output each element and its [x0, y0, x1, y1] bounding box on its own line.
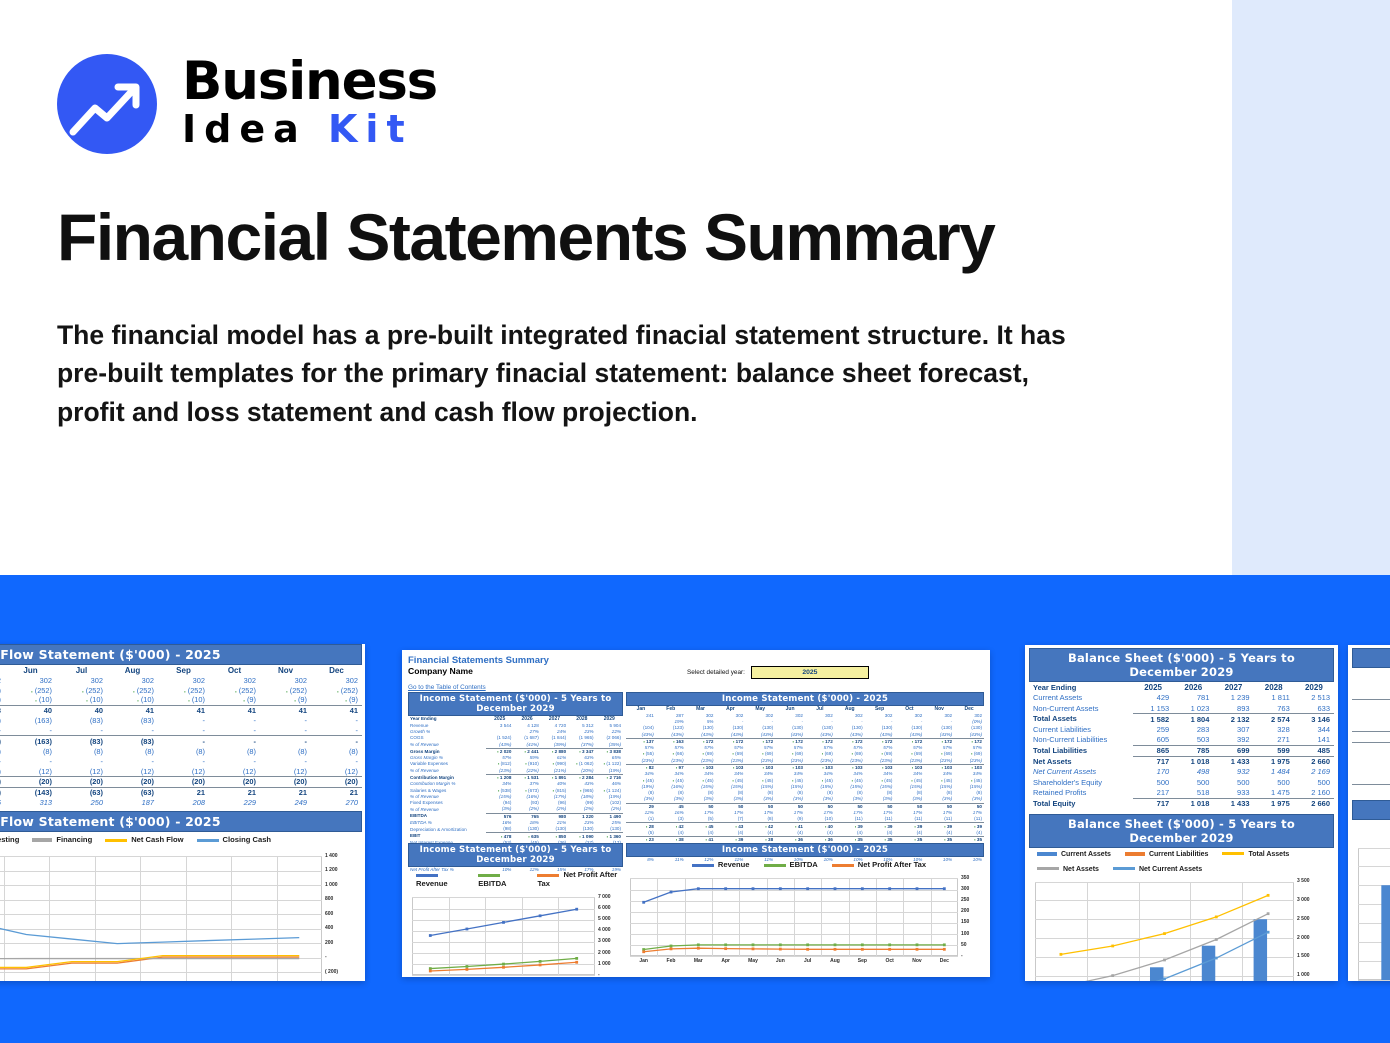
comment-flag-icon: ▪ [852, 739, 853, 744]
table-cell: ▪ (252) [311, 685, 362, 695]
table-cell: 933 [1213, 788, 1253, 799]
legend-label: Current Assets [1061, 851, 1111, 858]
table-cell: 3 146 [1294, 714, 1334, 725]
column-header: 2028 [1254, 682, 1294, 693]
legend-label: EBITDA [478, 879, 506, 888]
table-cell: - [5, 756, 56, 766]
comment-flag-icon: ▪ [971, 778, 972, 783]
legend-item: Net Profit After Tax [537, 870, 623, 888]
table-cell: ▪ 42 [656, 823, 686, 830]
trend-arrow-circle-icon [57, 54, 157, 154]
comment-flag-icon: ▪ [646, 824, 647, 829]
comment-flag-icon: ▪ [243, 698, 244, 703]
comment-flag-icon: ▪ [643, 778, 644, 783]
table-cell: 1 811 [1254, 693, 1294, 704]
table-cell: 2 660 [1294, 798, 1334, 809]
comment-flag-icon: ▪ [188, 698, 189, 703]
table-cell: 21 [158, 787, 209, 797]
table-row: Current Liabilities259283307328344 [1029, 724, 1334, 735]
table-cell: (3%) [656, 796, 686, 803]
table-cell: 1 174 [1352, 679, 1390, 690]
comment-flag-icon: ▪ [941, 778, 942, 783]
comment-flag-icon: ▪ [793, 739, 794, 744]
comment-flag-icon: ▪ [942, 739, 943, 744]
table-cell: 217 [1133, 788, 1173, 799]
brand-name-kit: Kit [328, 107, 413, 151]
legend-item: Current Liabilities [1125, 851, 1209, 858]
comment-flag-icon: ▪ [914, 837, 915, 842]
table-cell: (3%) [715, 796, 745, 803]
table-cell: (8) [5, 746, 56, 756]
table-cell: 2 169 [1294, 767, 1334, 778]
table-cell: (23%) [835, 758, 865, 765]
table-cell: (3%) [805, 796, 835, 803]
table-cell: (41%) [513, 742, 540, 749]
table-row: (21)(20)(20)(20)(20)(20)(20)(20) [0, 776, 362, 787]
table-cell: (2%) [568, 806, 595, 813]
table-row: EBIT▪ 478▪ 635▪ 850▪ 1 090▪ 1 360 [408, 833, 623, 840]
table-cell: (83) [107, 716, 158, 726]
table-cell: 429 [1133, 693, 1173, 704]
table-row: % of Revenue(43%)(41%)(39%)(37%)(35%) [408, 742, 623, 749]
comment-flag-icon: ▪ [525, 788, 526, 793]
summary-doc-title: Financial Statements Summary [408, 655, 984, 666]
comment-flag-icon: ▪ [82, 689, 83, 694]
legend-item: Revenue [416, 870, 468, 888]
comment-flag-icon: ▪ [646, 765, 647, 770]
table-cell: 41 [107, 705, 158, 715]
table-cell: (23%) [954, 758, 984, 765]
table-cell: - [260, 726, 311, 736]
table-cell: 512 [1352, 742, 1390, 753]
comment-flag-icon: ▪ [882, 765, 883, 770]
comment-flag-icon: ▪ [792, 751, 793, 756]
table-cell: - [209, 756, 260, 766]
table-cell: 765 [513, 813, 540, 820]
comment-flag-icon: ▪ [579, 834, 580, 839]
table-row: 12 [1352, 774, 1390, 785]
table-cell: 2 132 [1213, 714, 1253, 725]
comment-flag-icon: ▪ [822, 751, 823, 756]
table-cell: ▪ (10) [5, 695, 56, 705]
table-cell: 1 018 [1173, 798, 1213, 809]
table-cell: 1 582 [1133, 714, 1173, 725]
legend-label: Revenue [416, 879, 448, 888]
comment-flag-icon: ▪ [525, 775, 526, 780]
table-cell: 1 081 [1352, 753, 1390, 764]
table-cell: ▪ 39 [835, 823, 865, 830]
table-cell: - [209, 726, 260, 736]
table-cell: ▪ 3 838 [596, 748, 623, 755]
table-cell: ▪ 39 [924, 823, 954, 830]
comment-flag-icon: ▪ [885, 824, 886, 829]
comment-flag-icon: ▪ [345, 698, 346, 703]
table-row: (43%)(43%)(43%)(43%)(43%)(43%)(43%)(43%)… [626, 732, 984, 739]
table-of-contents-link[interactable]: Go to the Table of Contents [408, 684, 486, 691]
table-cell: ▪ (9) [260, 695, 311, 705]
column-header: Nov [260, 665, 311, 675]
table-cell: (83) [107, 736, 158, 746]
legend-label: EBITDA [790, 860, 818, 869]
table-row: (163)(163)(83)(83)---- [0, 716, 362, 726]
table-cell: (19%) [596, 768, 623, 775]
table-cell: (43%) [865, 732, 895, 739]
table-cell: (20) [311, 776, 362, 787]
table-cell: 576 [486, 813, 513, 820]
table-cell: 50 [954, 803, 984, 810]
comment-flag-icon: ▪ [825, 824, 826, 829]
table-cell: (4) [686, 830, 716, 837]
table-cell: (43%) [486, 742, 513, 749]
table-cell: 302 [5, 675, 56, 685]
table-cell: (43%) [775, 732, 805, 739]
table-cell: ▪ 172 [954, 738, 984, 745]
table-cell: 692 [1352, 721, 1390, 732]
table-cell: ▪ 850 [541, 833, 568, 840]
cashflow-table-title: Cash Flow Statement ($'000) - 2025 [0, 644, 362, 665]
table-cell: (163) [5, 736, 56, 746]
annual-chart-legend: RevenueEBITDANet Profit After Tax [408, 867, 623, 891]
comment-flag-icon: ▪ [852, 751, 853, 756]
table-row: 93 [1352, 710, 1390, 721]
legend-label: Current Liabilities [1149, 851, 1209, 858]
table-cell: (3%) [745, 796, 775, 803]
table-cell: 500 [1254, 777, 1294, 788]
table-cell: (11) [894, 816, 924, 823]
legend-swatch [537, 874, 559, 877]
table-cell: 12 [1352, 774, 1390, 785]
row-header-label: Year Ending [1029, 682, 1133, 693]
table-cell: ▪ 2 441 [513, 748, 540, 755]
table-cell: (4) [745, 830, 775, 837]
legend-swatch [32, 838, 52, 842]
row-label: Depreciation & Amortization [408, 826, 486, 833]
column-header: Aug [107, 665, 158, 675]
table-cell: - [158, 726, 209, 736]
legend-label: Net Profit After Tax [858, 860, 926, 869]
table-cell: ▪ 172 [865, 738, 895, 745]
table-cell: - [158, 736, 209, 746]
table-cell: 21 [311, 787, 362, 797]
legend-swatch [832, 864, 854, 867]
table-cell: (23%) [924, 758, 954, 765]
table-cell: 1 297 [1352, 700, 1390, 711]
comment-flag-icon: ▪ [942, 765, 943, 770]
table-cell: (12) [311, 766, 362, 776]
table-cell: (21%) [541, 768, 568, 775]
comment-flag-icon: ▪ [765, 824, 766, 829]
table-cell: ▪ 1 090 [568, 833, 595, 840]
brand-name-line2: Idea Kit [182, 109, 437, 151]
table-cell: 503 [1173, 735, 1213, 746]
table-cell: ▪ 82 [626, 764, 656, 771]
row-label: Net Assets [1029, 756, 1133, 767]
table-cell: (98) [486, 826, 513, 833]
monthly-chart-legend: RevenueEBITDANet Profit After Tax [626, 857, 984, 872]
table-cell: 50 [686, 803, 716, 810]
brand-name-line1: Business [182, 57, 437, 107]
edge-panel: Jan1 1741241 297936927865121 08150012512… [1348, 645, 1390, 981]
table-cell: ▪ 103 [805, 764, 835, 771]
table-cell: 1 220 [568, 813, 595, 820]
comment-flag-icon: ▪ [914, 824, 915, 829]
table-cell: (8) [260, 746, 311, 756]
table-cell: (11) [835, 816, 865, 823]
comment-flag-icon: ▪ [528, 834, 529, 839]
table-cell: (83) [56, 716, 107, 726]
table-cell: ▪ 103 [954, 764, 984, 771]
table-row: 294550505050505050505050 [626, 803, 984, 810]
comment-flag-icon: ▪ [732, 751, 733, 756]
comment-flag-icon: ▪ [604, 788, 605, 793]
table-cell: 1 153 [1133, 703, 1173, 714]
table-cell: ▪ 172 [715, 738, 745, 745]
table-cell: (130) [596, 826, 623, 833]
table-cell: ▪ 172 [894, 738, 924, 745]
comment-flag-icon: ▪ [498, 788, 499, 793]
table-cell: (8) [107, 746, 158, 756]
table-cell: (9) [775, 816, 805, 823]
row-label: % of Revenue [408, 768, 486, 775]
table-cell: ▪ 1 360 [596, 833, 623, 840]
table-cell: 2 160 [1294, 788, 1334, 799]
table-cell: 50 [835, 803, 865, 810]
table-cell: ▪ (10) [56, 695, 107, 705]
table-cell: ▪ (252) [5, 685, 56, 695]
table-cell: ▪ 39 [954, 823, 984, 830]
table-cell: 717 [1133, 756, 1173, 767]
table-cell: 29 [626, 803, 656, 810]
table-row: (8)(8)(8)(8)(8)(8)(8)(8) [0, 746, 362, 756]
comment-flag-icon: ▪ [497, 749, 498, 754]
table-cell: 699 [1213, 745, 1253, 756]
table-cell: ▪ (252) [209, 685, 260, 695]
table-cell: 21 [260, 787, 311, 797]
comment-flag-icon: ▪ [795, 824, 796, 829]
comment-flag-icon: ▪ [525, 749, 526, 754]
table-cell: 302 [107, 675, 158, 685]
comment-flag-icon: ▪ [235, 689, 236, 694]
table-cell: 41 [158, 705, 209, 715]
table-cell: (4) [865, 830, 895, 837]
legend-label: Net Assets [1063, 866, 1099, 873]
table-cell: (43%) [924, 732, 954, 739]
table-cell: - [311, 716, 362, 726]
table-cell: 500 [1294, 777, 1334, 788]
table-cell: (3%) [775, 796, 805, 803]
comment-flag-icon: ▪ [31, 689, 32, 694]
table-cell: 40 [56, 705, 107, 715]
table-cell: ▪ 40 [805, 823, 835, 830]
table-cell: ▪ 172 [745, 738, 775, 745]
table-row: (1)(3)(5)(7)(8)(9)(10)(11)(11)(11)(11)(1… [626, 816, 984, 823]
table-cell: ▪ 103 [835, 764, 865, 771]
brand-wordmark: Business Idea Kit [182, 57, 437, 151]
legend-label: Net Cash Flow [131, 835, 183, 844]
table-cell: ▪ (10) [158, 695, 209, 705]
table-row: Depreciation & Amortization(98)(130)(130… [408, 826, 623, 833]
table-cell: 187 [107, 797, 158, 807]
table-cell: - [209, 716, 260, 726]
table-cell: ▪ 45 [686, 823, 716, 830]
row-label: EBIT [408, 833, 486, 840]
table-cell: (12) [209, 766, 260, 776]
table-row: (163)(163)(83)(83)---- [0, 736, 362, 746]
table-cell: 302 [260, 675, 311, 685]
comment-flag-icon: ▪ [497, 775, 498, 780]
row-label: % of Revenue [408, 806, 486, 813]
table-cell: 932 [1213, 767, 1253, 778]
table-cell: 763 [1254, 703, 1294, 714]
row-label: Total Equity [1029, 798, 1133, 809]
legend-label: Revenue [718, 860, 750, 869]
year-selector-input[interactable]: 2025 [751, 666, 869, 679]
annual-income-chart: 7 0006 0005 0004 0003 0002 0001 000-2025… [408, 891, 623, 977]
table-cell: 865 [1133, 745, 1173, 756]
table-row: 1 297 [1352, 700, 1390, 711]
table-cell: 21 [209, 787, 260, 797]
legend-label: Closing Cash [223, 835, 272, 844]
table-cell: (63) [56, 787, 107, 797]
table-cell: 259 [1133, 724, 1173, 735]
table-cell: 500 [1352, 763, 1390, 774]
table-row: ▪ 137▪ 163▪ 172▪ 172▪ 172▪ 172▪ 172▪ 172… [626, 738, 984, 745]
table-cell: - [311, 736, 362, 746]
table-cell: 45 [656, 803, 686, 810]
table-row: Total Liabilities865785699599485 [1029, 745, 1334, 756]
cashflow-table: MayJunJulAugSepOctNovDec3023023023023023… [0, 665, 362, 807]
table-row: 1 174 [1352, 679, 1390, 690]
table-cell: 93 [1352, 710, 1390, 721]
balance-table-title: Balance Sheet ($'000) - 5 Years to Decem… [1029, 648, 1334, 682]
table-cell: (2%) [596, 806, 623, 813]
legend-item: Investing [0, 835, 19, 844]
table-cell: (8) [56, 746, 107, 756]
table-cell: ▪ 103 [894, 764, 924, 771]
table-row: (3%)(3%)(3%)(3%)(3%)(3%)(3%)(3%)(3%)(3%)… [626, 796, 984, 803]
annual-income-title: Income Statement ($'000) - 5 Years to De… [408, 692, 623, 716]
table-cell: ▪ (252) [56, 685, 107, 695]
comment-flag-icon: ▪ [822, 778, 823, 783]
table-cell: 50 [894, 803, 924, 810]
table-cell: ▪ 42 [745, 823, 775, 830]
table-cell: 271 [1254, 735, 1294, 746]
table-cell: 786 [1352, 731, 1390, 742]
table-cell: ▪ 2 716 [596, 774, 623, 781]
comment-flag-icon: ▪ [706, 824, 707, 829]
table-cell: (130) [513, 826, 540, 833]
table-row: Non-Current Assets1 1531 023893763633 [1029, 703, 1334, 714]
table-row: (13)(12)(12)(12)(12)(12)(12)(12) [0, 766, 362, 776]
table-row: Shareholder's Equity500500500500500 [1029, 777, 1334, 788]
comment-flag-icon: ▪ [137, 698, 138, 703]
legend-swatch [416, 874, 438, 877]
legend-item: Net Profit After Tax [832, 860, 926, 869]
table-cell: (130) [568, 826, 595, 833]
table-cell: (23%) [775, 758, 805, 765]
table-cell: ▪ 103 [715, 764, 745, 771]
legend-label: Total Assets [1248, 851, 1289, 858]
legend-label: Net Current Assets [1139, 866, 1202, 873]
table-row: ▪ 82▪ 97▪ 103▪ 103▪ 103▪ 103▪ 103▪ 103▪ … [626, 764, 984, 771]
comment-flag-icon: ▪ [676, 765, 677, 770]
comment-flag-icon: ▪ [944, 837, 945, 842]
table-row: Contribution Margin▪ 1 208▪ 1 531▪ 1 891… [408, 774, 623, 781]
legend-swatch [1037, 852, 1057, 856]
table-cell: (43%) [835, 732, 865, 739]
table-cell: (11) [865, 816, 895, 823]
comment-flag-icon: ▪ [972, 739, 973, 744]
column-header: 2029 [1294, 682, 1334, 693]
table-row: ▪ (10)▪ (10)▪ (10)▪ (10)▪ (10)▪ (9)▪ (9)… [0, 695, 362, 705]
table-cell: (3%) [954, 796, 984, 803]
table-cell: 633 [1294, 703, 1334, 714]
comment-flag-icon: ▪ [703, 751, 704, 756]
table-row: Non-Current Liabilities605503392271141 [1029, 735, 1334, 746]
table-cell: ▪ 28 [626, 823, 656, 830]
table-cell: (2%) [541, 806, 568, 813]
table-cell: ▪ (252) [158, 685, 209, 695]
comment-flag-icon: ▪ [646, 837, 647, 842]
table-cell: ▪ 478 [486, 833, 513, 840]
table-cell: (23%) [686, 758, 716, 765]
comment-flag-icon: ▪ [885, 837, 886, 842]
table-cell: 50 [775, 803, 805, 810]
row-label: Non-Current Liabilities [1029, 735, 1133, 746]
table-cell: 605 [1133, 735, 1173, 746]
edge-panel-table: Jan1 1741241 297936927865121 08150012512 [1352, 668, 1390, 795]
table-cell: 1 490 [596, 813, 623, 820]
comment-flag-icon: ▪ [852, 765, 853, 770]
table-cell: (43%) [954, 732, 984, 739]
table-cell: ▪ 41 [775, 823, 805, 830]
legend-swatch [692, 864, 714, 867]
table-cell: 1 023 [1173, 703, 1213, 714]
row-label: Shareholder's Equity [1029, 777, 1133, 788]
comment-flag-icon: ▪ [882, 739, 883, 744]
page-description: The financial model has a pre-built inte… [57, 316, 1087, 431]
comment-flag-icon: ▪ [795, 837, 796, 842]
table-cell: (20) [56, 776, 107, 787]
legend-item: Closing Cash [197, 835, 272, 844]
table-cell: ▪ 1 208 [486, 774, 513, 781]
edge-panel-title [1352, 648, 1390, 668]
table-cell: ▪ 39 [894, 823, 924, 830]
table-cell: 1 239 [1213, 693, 1253, 704]
legend-item: Financing [32, 835, 92, 844]
table-cell: 50 [865, 803, 895, 810]
table-cell: 141 [1294, 735, 1334, 746]
table-cell: ▪ 2 880 [541, 748, 568, 755]
table-cell: (8) [745, 816, 775, 823]
row-label: Retained Profits [1029, 788, 1133, 799]
year-selector-row: Select detailed year: 2025 [687, 666, 869, 679]
legend-swatch [1222, 852, 1244, 855]
summary-panel: Financial Statements Summary Company Nam… [402, 650, 990, 977]
table-cell: (35%) [596, 742, 623, 749]
table-cell: (83) [56, 736, 107, 746]
table-cell: 717 [1133, 798, 1173, 809]
comment-flag-icon: ▪ [882, 751, 883, 756]
table-cell: (3%) [894, 796, 924, 803]
table-cell: 498 [1173, 767, 1213, 778]
table-cell: (39%) [541, 742, 568, 749]
table-cell: 170 [1133, 767, 1173, 778]
comment-flag-icon: ▪ [294, 698, 295, 703]
row-label: EBITDA [408, 813, 486, 820]
table-cell: (23%) [805, 758, 835, 765]
table-cell: - [56, 726, 107, 736]
